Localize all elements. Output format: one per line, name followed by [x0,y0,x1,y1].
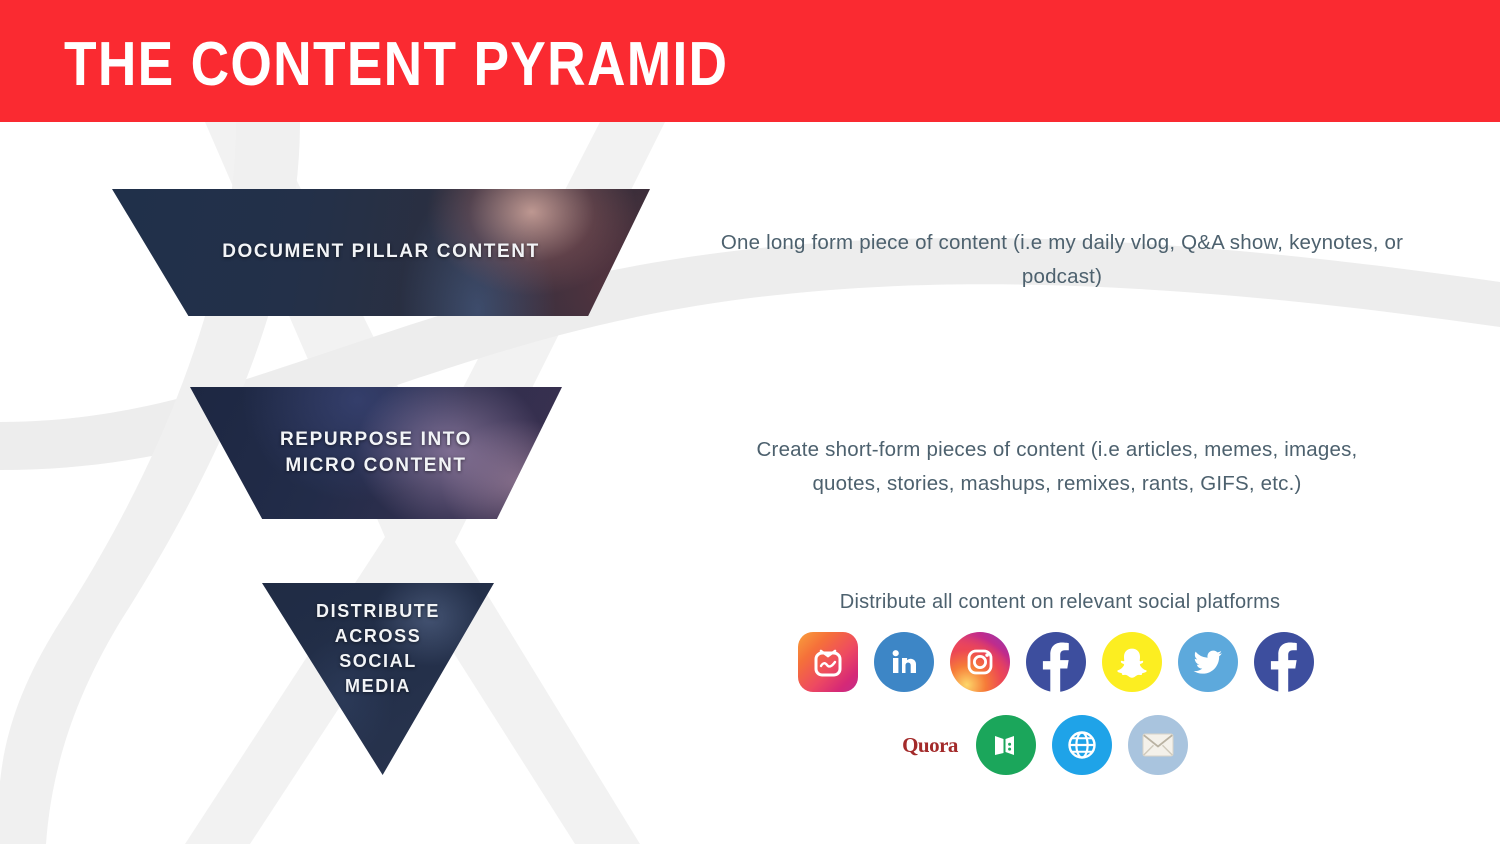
funnel-stage-2[interactable]: REPURPOSE INTO MICRO CONTENT [190,387,562,519]
label-line: REPURPOSE INTO [190,427,562,453]
linkedin-icon[interactable] [874,632,934,692]
stage-2-description: Create short-form pieces of content (i.e… [722,433,1392,501]
quora-wordmark: Quora [902,733,958,758]
igtv-icon[interactable] [798,632,858,692]
label-line: DISTRIBUTE [262,599,494,624]
social-icons-row-2: Quora [900,715,1188,775]
label-line: MICRO CONTENT [190,453,562,479]
funnel-stage-1[interactable]: DOCUMENT PILLAR CONTENT [112,189,650,316]
email-icon[interactable] [1128,715,1188,775]
page-title: THE CONTENT PYRAMID [64,34,728,96]
label-line: SOCIAL [262,649,494,674]
instagram-icon[interactable] [950,632,1010,692]
stage-1-description: One long form piece of content (i.e my d… [712,226,1412,294]
label-line: DOCUMENT PILLAR CONTENT [112,239,650,265]
funnel-stage-3-label: DISTRIBUTE ACROSS SOCIAL MEDIA [262,599,494,699]
label-line: MEDIA [262,674,494,699]
header-banner: THE CONTENT PYRAMID [0,0,1500,122]
funnel-stage-2-label: REPURPOSE INTO MICRO CONTENT [190,427,562,479]
label-line: ACROSS [262,624,494,649]
facebook-icon[interactable] [1026,632,1086,692]
social-icons-row-1 [798,632,1314,692]
medium-icon[interactable] [976,715,1036,775]
stage-3-description: Distribute all content on relevant socia… [760,585,1360,619]
quora-icon[interactable]: Quora [900,715,960,775]
twitter-icon[interactable] [1178,632,1238,692]
web-icon[interactable] [1052,715,1112,775]
snapchat-icon[interactable] [1102,632,1162,692]
funnel-stage-3[interactable]: DISTRIBUTE ACROSS SOCIAL MEDIA [262,583,494,775]
slide-canvas: THE CONTENT PYRAMID DOCUMENT PILLAR CONT… [0,0,1500,844]
funnel-stage-1-label: DOCUMENT PILLAR CONTENT [112,239,650,265]
facebook-icon[interactable] [1254,632,1314,692]
